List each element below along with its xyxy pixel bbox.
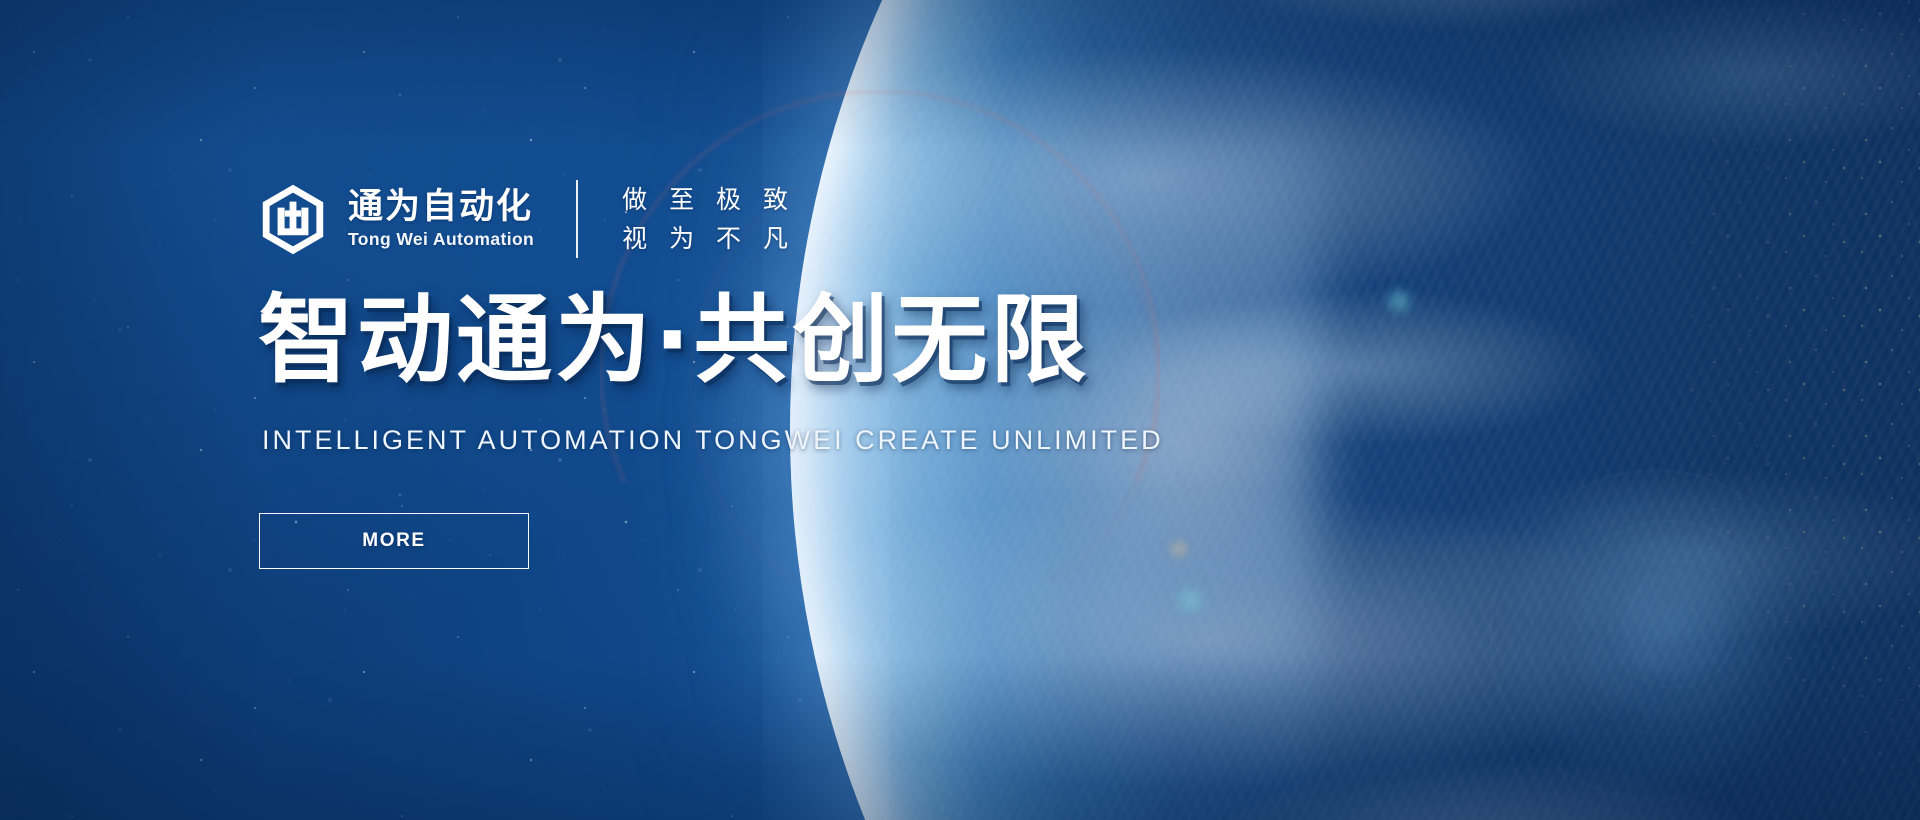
brand-slogan: 做 至 极 致 视 为 不 凡: [622, 180, 795, 258]
page-title: 智动通为·共创无限: [258, 290, 1089, 392]
hero-banner: 通为自动化 Tong Wei Automation 做 至 极 致 视 为 不 …: [0, 0, 1920, 820]
brand-name-cn: 通为自动化: [348, 189, 534, 226]
page-subtitle: INTELLIGENT AUTOMATION TONGWEI CREATE UN…: [262, 425, 1164, 456]
more-button[interactable]: MORE: [259, 513, 529, 569]
brand-slogan-line-1: 做 至 极 致: [622, 180, 795, 220]
banner-content: 通为自动化 Tong Wei Automation 做 至 极 致 视 为 不 …: [0, 0, 1920, 820]
brand-slogan-line-2: 视 为 不 凡: [622, 219, 795, 259]
brand-lockup: 通为自动化 Tong Wei Automation 做 至 极 致 视 为 不 …: [260, 180, 795, 258]
brand-divider: [576, 180, 578, 258]
brand-name-en: Tong Wei Automation: [348, 231, 534, 249]
hexagon-tw-monogram-icon: [260, 183, 326, 255]
brand-name-block: 通为自动化 Tong Wei Automation: [348, 183, 534, 255]
